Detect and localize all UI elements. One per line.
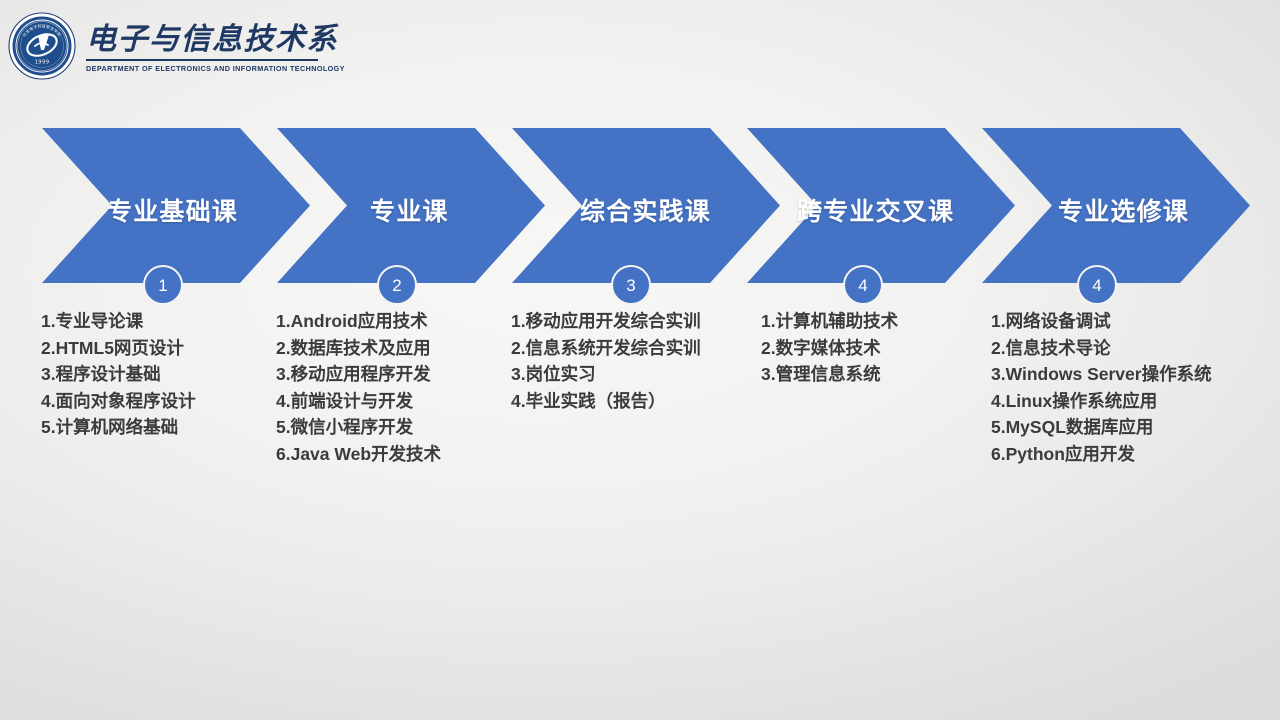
course-item[interactable]: 2.数据库技术及应用 — [276, 335, 441, 362]
course-item[interactable]: 3.Windows Server操作系统 — [991, 361, 1212, 388]
course-column-1: 1.专业导论课 2.HTML5网页设计 3.程序设计基础 4.面向对象程序设计 … — [41, 308, 196, 441]
course-item[interactable]: 6.Python应用开发 — [991, 441, 1212, 468]
department-seal-logo: 北京电子科技职业学院 1999 — [8, 12, 76, 80]
department-title-block: 电子与信息技术系 DEPARTMENT OF ELECTRONICS AND I… — [86, 22, 336, 73]
slide-canvas: 北京电子科技职业学院 1999 电子与信息技术系 DEPARTMENT OF E… — [0, 0, 1280, 720]
course-item[interactable]: 2.信息系统开发综合实训 — [511, 335, 701, 362]
course-item[interactable]: 4.面向对象程序设计 — [41, 388, 196, 415]
course-item[interactable]: 3.岗位实习 — [511, 361, 701, 388]
course-item[interactable]: 1.计算机辅助技术 — [761, 308, 898, 335]
course-item[interactable]: 2.信息技术导论 — [991, 335, 1212, 362]
course-item[interactable]: 1.专业导论课 — [41, 308, 196, 335]
department-title-en: DEPARTMENT OF ELECTRONICS AND INFORMATIO… — [86, 64, 336, 73]
course-item[interactable]: 1.网络设备调试 — [991, 308, 1212, 335]
course-item[interactable]: 4.毕业实践（报告） — [511, 388, 701, 415]
title-divider-rule — [86, 59, 318, 61]
stage-label-2[interactable]: 专业课 — [370, 192, 449, 228]
seal-year-text: 1999 — [35, 60, 50, 66]
course-item[interactable]: 3.管理信息系统 — [761, 361, 898, 388]
course-item[interactable]: 3.程序设计基础 — [41, 361, 196, 388]
slide-header: 北京电子科技职业学院 1999 电子与信息技术系 DEPARTMENT OF E… — [0, 0, 1280, 92]
stage-badge-3[interactable]: 3 — [611, 265, 651, 305]
course-item[interactable]: 2.HTML5网页设计 — [41, 335, 196, 362]
course-item[interactable]: 3.移动应用程序开发 — [276, 361, 441, 388]
course-item[interactable]: 1.移动应用开发综合实训 — [511, 308, 701, 335]
stage-label-4[interactable]: 跨专业交叉课 — [797, 192, 954, 228]
course-column-5: 1.网络设备调试 2.信息技术导论 3.Windows Server操作系统 4… — [991, 308, 1212, 467]
stage-badge-4[interactable]: 4 — [843, 265, 883, 305]
course-column-2: 1.Android应用技术 2.数据库技术及应用 3.移动应用程序开发 4.前端… — [276, 308, 441, 467]
course-item[interactable]: 4.前端设计与开发 — [276, 388, 441, 415]
stage-badge-1[interactable]: 1 — [143, 265, 183, 305]
course-column-3: 1.移动应用开发综合实训 2.信息系统开发综合实训 3.岗位实习 4.毕业实践（… — [511, 308, 701, 414]
stage-badge-2[interactable]: 2 — [377, 265, 417, 305]
stage-badge-5[interactable]: 4 — [1077, 265, 1117, 305]
course-item[interactable]: 5.微信小程序开发 — [276, 414, 441, 441]
stage-label-1[interactable]: 专业基础课 — [107, 192, 238, 228]
stage-label-3[interactable]: 综合实践课 — [580, 192, 711, 228]
course-item[interactable]: 1.Android应用技术 — [276, 308, 441, 335]
course-item[interactable]: 5.计算机网络基础 — [41, 414, 196, 441]
course-item[interactable]: 6.Java Web开发技术 — [276, 441, 441, 468]
course-item[interactable]: 2.数字媒体技术 — [761, 335, 898, 362]
stage-label-5[interactable]: 专业选修课 — [1058, 192, 1189, 228]
course-item[interactable]: 4.Linux操作系统应用 — [991, 388, 1212, 415]
course-column-4: 1.计算机辅助技术 2.数字媒体技术 3.管理信息系统 — [761, 308, 898, 388]
course-item[interactable]: 5.MySQL数据库应用 — [991, 414, 1212, 441]
department-title-cn: 电子与信息技术系 — [86, 22, 336, 58]
